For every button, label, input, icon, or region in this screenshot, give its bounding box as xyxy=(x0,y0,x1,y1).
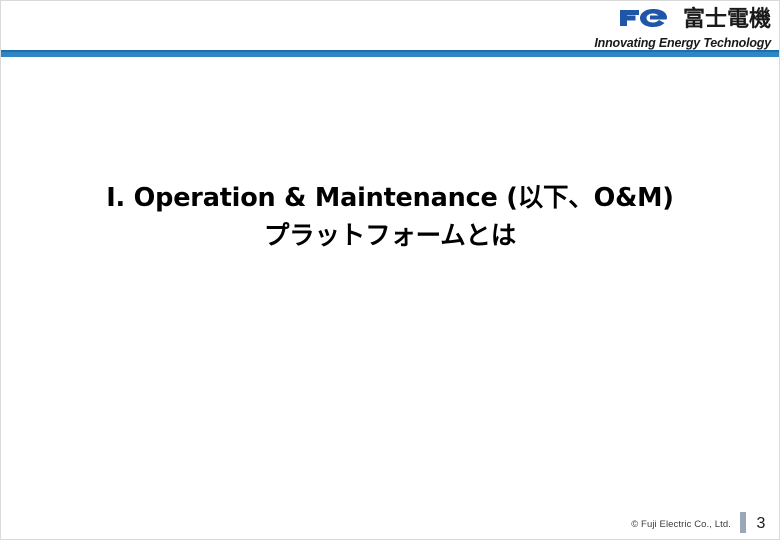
slide-body: Ⅰ. Operation & Maintenance (以下、O&M) プラット… xyxy=(1,57,779,509)
fuji-electric-logo: 富士電機 Innovating Energy Technology xyxy=(594,5,771,50)
slide-footer: © Fuji Electric Co., Ltd. 3 xyxy=(1,505,779,539)
page-title-line-2: プラットフォームとは xyxy=(1,217,779,255)
slide-header: 富士電機 Innovating Energy Technology xyxy=(1,1,779,50)
logo-company-name-jp: 富士電機 xyxy=(683,9,771,31)
header-divider xyxy=(1,50,779,57)
page-title: Ⅰ. Operation & Maintenance (以下、O&M) プラット… xyxy=(1,179,779,255)
logo-row: 富士電機 xyxy=(594,5,771,34)
copyright-text: © Fuji Electric Co., Ltd. xyxy=(631,519,731,530)
page-number: 3 xyxy=(751,514,771,534)
slide: 富士電機 Innovating Energy Technology Ⅰ. Ope… xyxy=(0,0,780,540)
fuji-electric-fe-logo-icon xyxy=(619,5,675,34)
page-number-separator xyxy=(740,512,746,533)
page-title-line-1: Ⅰ. Operation & Maintenance (以下、O&M) xyxy=(1,179,779,217)
logo-tagline: Innovating Energy Technology xyxy=(594,37,771,50)
